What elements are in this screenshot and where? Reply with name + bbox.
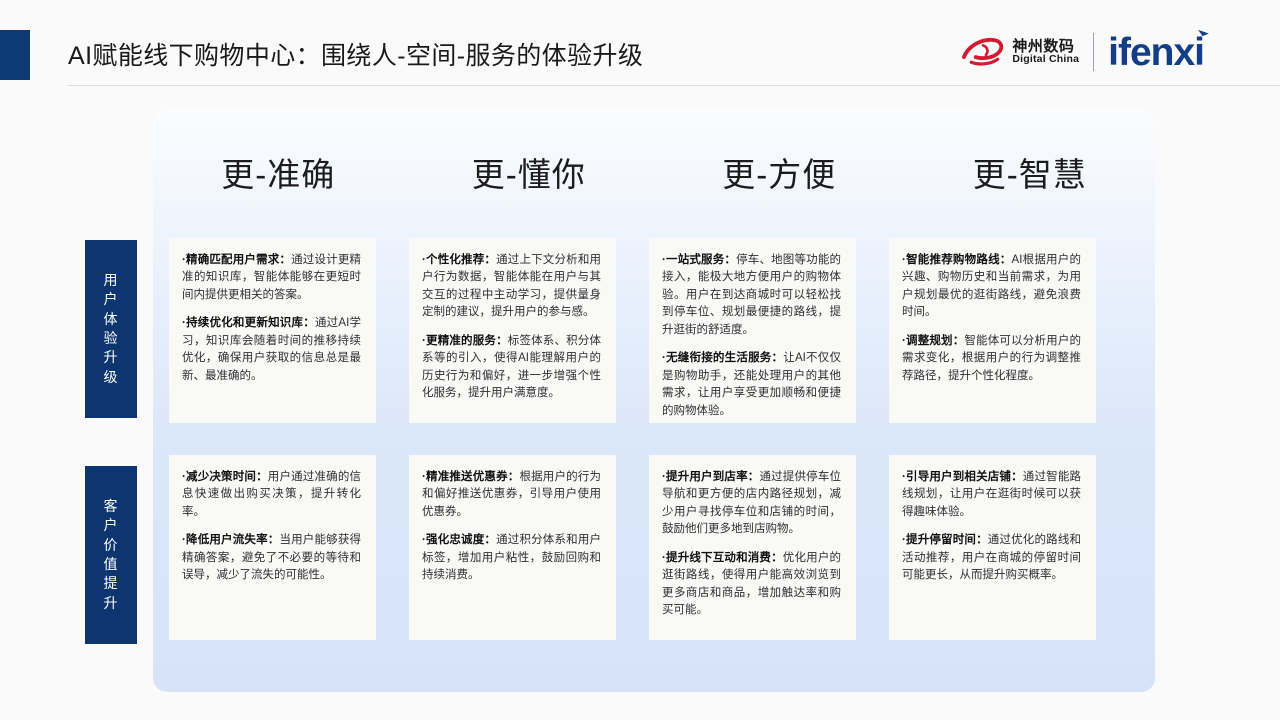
- card-row1-col1: ·精准推送优惠券：根据用户的行为和偏好推送优惠券，引导用户使用优惠券。 ·强化忠…: [409, 455, 616, 640]
- bullet-item: ·智能推荐购物路线：AI根据用户的兴趣、购物历史和当前需求，为用户规划最优的逛街…: [902, 252, 1081, 322]
- row-label-customer-value: 客户价值提升: [85, 466, 137, 644]
- logo-area: 神州数码 Digital China ifenxi: [961, 27, 1208, 77]
- bullet-item: ·精确匹配用户需求：通过设计更精准的知识库，智能体能够在更短时间内提供更相关的答…: [182, 252, 361, 304]
- row-label-user-experience: 用户体验升级: [85, 240, 137, 418]
- logo-divider: [1093, 33, 1094, 71]
- digital-china-logo: 神州数码 Digital China: [961, 35, 1079, 69]
- bullet-term: 个性化推荐：: [426, 254, 496, 266]
- bullet-item: ·更精准的服务：标签体系、积分体系等的引入，使得AI能理解用户的历史行为和偏好，…: [422, 333, 601, 403]
- bullet-term: 智能推荐购物路线：: [906, 254, 1012, 266]
- bullet-term: 提升用户到店率：: [666, 471, 760, 483]
- bullet-item: ·提升停留时间：通过优化的路线和活动推荐，用户在商城的停留时间可能更长，从而提升…: [902, 532, 1081, 584]
- card-row1-col3: ·引导用户到相关店铺：通过智能路线规划，让用户在逛街时候可以获得趣味体验。 ·提…: [889, 455, 1096, 640]
- bullet-term: 持续优化和更新知识库：: [186, 317, 315, 329]
- bullet-term: 引导用户到相关店铺：: [906, 471, 1023, 483]
- bullet-item: ·强化忠诚度：通过积分体系和用户标签，增加用户粘性，鼓励回购和持续消费。: [422, 532, 601, 584]
- digital-china-wordmark: 神州数码 Digital China: [1012, 39, 1079, 66]
- card-row0-col2: ·一站式服务：停车、地图等功能的接入，能极大地方便用户的购物体验。用户在到达商城…: [649, 238, 856, 423]
- card-grid: ·精确匹配用户需求：通过设计更精准的知识库，智能体能够在更短时间内提供更相关的答…: [169, 238, 1096, 640]
- bullet-term: 精确匹配用户需求：: [186, 254, 291, 266]
- row-label-text-0: 用户体验升级: [103, 271, 119, 387]
- bullet-item: ·持续优化和更新知识库：通过AI学习，知识库会随着时间的推移持续优化，确保用户获…: [182, 315, 361, 385]
- page-header: AI赋能线下购物中心：围绕人-空间-服务的体验升级 神州数码 Digital C…: [0, 0, 1280, 86]
- bullet-item: ·减少决策时间：用户通过准确的信息快速做出购买决策，提升转化率。: [182, 469, 361, 521]
- ifenxi-logo: ifenxi: [1108, 33, 1208, 72]
- bullet-item: ·引导用户到相关店铺：通过智能路线规划，让用户在逛街时候可以获得趣味体验。: [902, 469, 1081, 521]
- column-headings: 更-准确 更-懂你 更-方便 更-智慧: [153, 148, 1155, 208]
- card-row-customer-value: ·减少决策时间：用户通过准确的信息快速做出购买决策，提升转化率。 ·降低用户流失…: [169, 455, 1096, 640]
- bullet-term: 提升停留时间：: [906, 534, 988, 546]
- bullet-item: ·提升线下互动和消费：优化用户的逛街路线，使得用户能高效浏览到更多商店和商品，增…: [662, 550, 841, 620]
- header-accent-bar: [0, 30, 30, 80]
- bullet-term: 调整规划：: [906, 335, 965, 347]
- bullet-term: 提升线下互动和消费：: [666, 552, 783, 564]
- column-heading-2: 更-方便: [654, 148, 905, 208]
- row-label-text-1: 客户价值提升: [103, 497, 119, 613]
- card-row1-col2: ·提升用户到店率：通过提供停车位导航和更方便的店内路径规划，减少用户寻找停车位和…: [649, 455, 856, 640]
- bullet-term: 降低用户流失率：: [186, 534, 280, 546]
- bullet-item: ·提升用户到店率：通过提供停车位导航和更方便的店内路径规划，减少用户寻找停车位和…: [662, 469, 841, 539]
- bullet-term: 精准推送优惠券：: [426, 471, 520, 483]
- card-row0-col3: ·智能推荐购物路线：AI根据用户的兴趣、购物历史和当前需求，为用户规划最优的逛街…: [889, 238, 1096, 423]
- bullet-term: 强化忠诚度：: [426, 534, 496, 546]
- card-row0-col1: ·个性化推荐：通过上下文分析和用户行为数据，智能体能在用户与其交互的过程中主动学…: [409, 238, 616, 423]
- page-title: AI赋能线下购物中心：围绕人-空间-服务的体验升级: [68, 36, 643, 72]
- bullet-term: 一站式服务：: [666, 254, 736, 266]
- card-row-user-experience: ·精确匹配用户需求：通过设计更精准的知识库，智能体能够在更短时间内提供更相关的答…: [169, 238, 1096, 423]
- column-heading-1: 更-懂你: [404, 148, 655, 208]
- ifenxi-wordmark: ifenxi: [1108, 31, 1204, 74]
- bullet-item: ·个性化推荐：通过上下文分析和用户行为数据，智能体能在用户与其交互的过程中主动学…: [422, 252, 601, 322]
- ifenxi-arrow-icon: [1197, 29, 1210, 45]
- bullet-term: 更精准的服务：: [426, 335, 508, 347]
- bullet-body: 停车、地图等功能的接入，能极大地方便用户的购物体验。用户在到达商城时可以轻松找到…: [662, 254, 841, 336]
- column-heading-0: 更-准确: [153, 148, 404, 208]
- bullet-item: ·调整规划：智能体可以分析用户的需求变化，根据用户的行为调整推荐路径，提升个性化…: [902, 333, 1081, 385]
- bullet-term: 无缝衔接的生活服务：: [666, 352, 783, 364]
- digital-china-cn-text: 神州数码: [1012, 39, 1079, 55]
- card-row1-col0: ·减少决策时间：用户通过准确的信息快速做出购买决策，提升转化率。 ·降低用户流失…: [169, 455, 376, 640]
- bullet-item: ·无缝衔接的生活服务：让AI不仅仅是购物助手，还能处理用户的其他需求，让用户享受…: [662, 350, 841, 420]
- digital-china-swoosh-icon: [961, 35, 1005, 69]
- card-row0-col0: ·精确匹配用户需求：通过设计更精准的知识库，智能体能够在更短时间内提供更相关的答…: [169, 238, 376, 423]
- bullet-term: 减少决策时间：: [186, 471, 268, 483]
- bullet-item: ·精准推送优惠券：根据用户的行为和偏好推送优惠券，引导用户使用优惠券。: [422, 469, 601, 521]
- header-divider: [68, 85, 1280, 86]
- column-heading-3: 更-智慧: [905, 148, 1156, 208]
- bullet-item: ·降低用户流失率：当用户能够获得精确答案，避免了不必要的等待和误导，减少了流失的…: [182, 532, 361, 584]
- bullet-item: ·一站式服务：停车、地图等功能的接入，能极大地方便用户的购物体验。用户在到达商城…: [662, 252, 841, 339]
- digital-china-en-text: Digital China: [1012, 54, 1079, 65]
